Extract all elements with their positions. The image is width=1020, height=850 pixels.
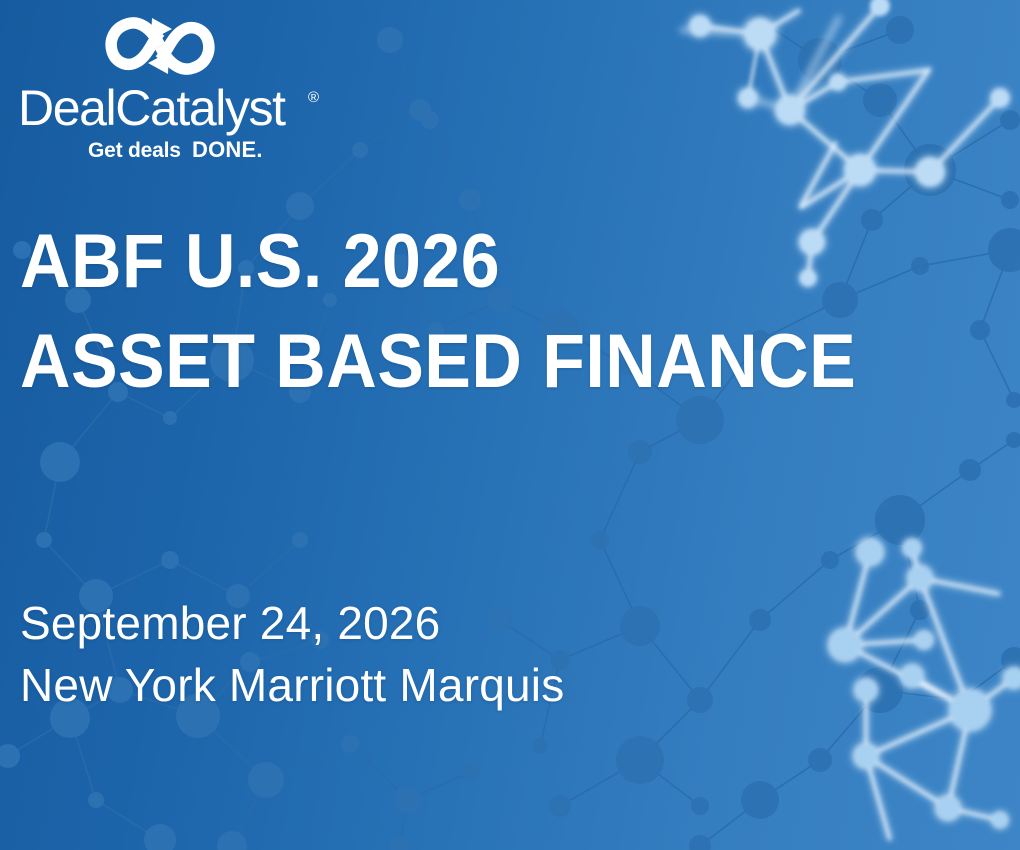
dealcatalyst-logo[interactable]: DealCatalyst ® Get deals DONE. xyxy=(18,10,348,163)
event-title-line-1: ABF U.S. 2026 xyxy=(20,212,856,312)
event-title-line-2: ASSET BASED FINANCE xyxy=(20,312,856,412)
event-venue: New York Marriott Marquis xyxy=(20,654,564,716)
wordmark-text: DealCatalyst xyxy=(18,84,286,136)
tagline-light-text: Get deals xyxy=(88,139,181,162)
brand-tagline: Get deals DONE. xyxy=(18,137,338,163)
dealcatalyst-wordmark: DealCatalyst ® xyxy=(18,84,338,136)
event-date: September 24, 2026 xyxy=(20,592,564,654)
event-title: ABF U.S. 2026 ASSET BASED FINANCE xyxy=(20,212,929,412)
tagline-bold-text: DONE. xyxy=(192,137,263,162)
event-title-slide: DealCatalyst ® Get deals DONE. ABF U.S. … xyxy=(0,0,1020,850)
event-details: September 24, 2026 New York Marriott Mar… xyxy=(20,592,564,716)
registered-trademark-icon: ® xyxy=(308,89,319,106)
infinity-loop-arrows-icon xyxy=(96,10,224,82)
